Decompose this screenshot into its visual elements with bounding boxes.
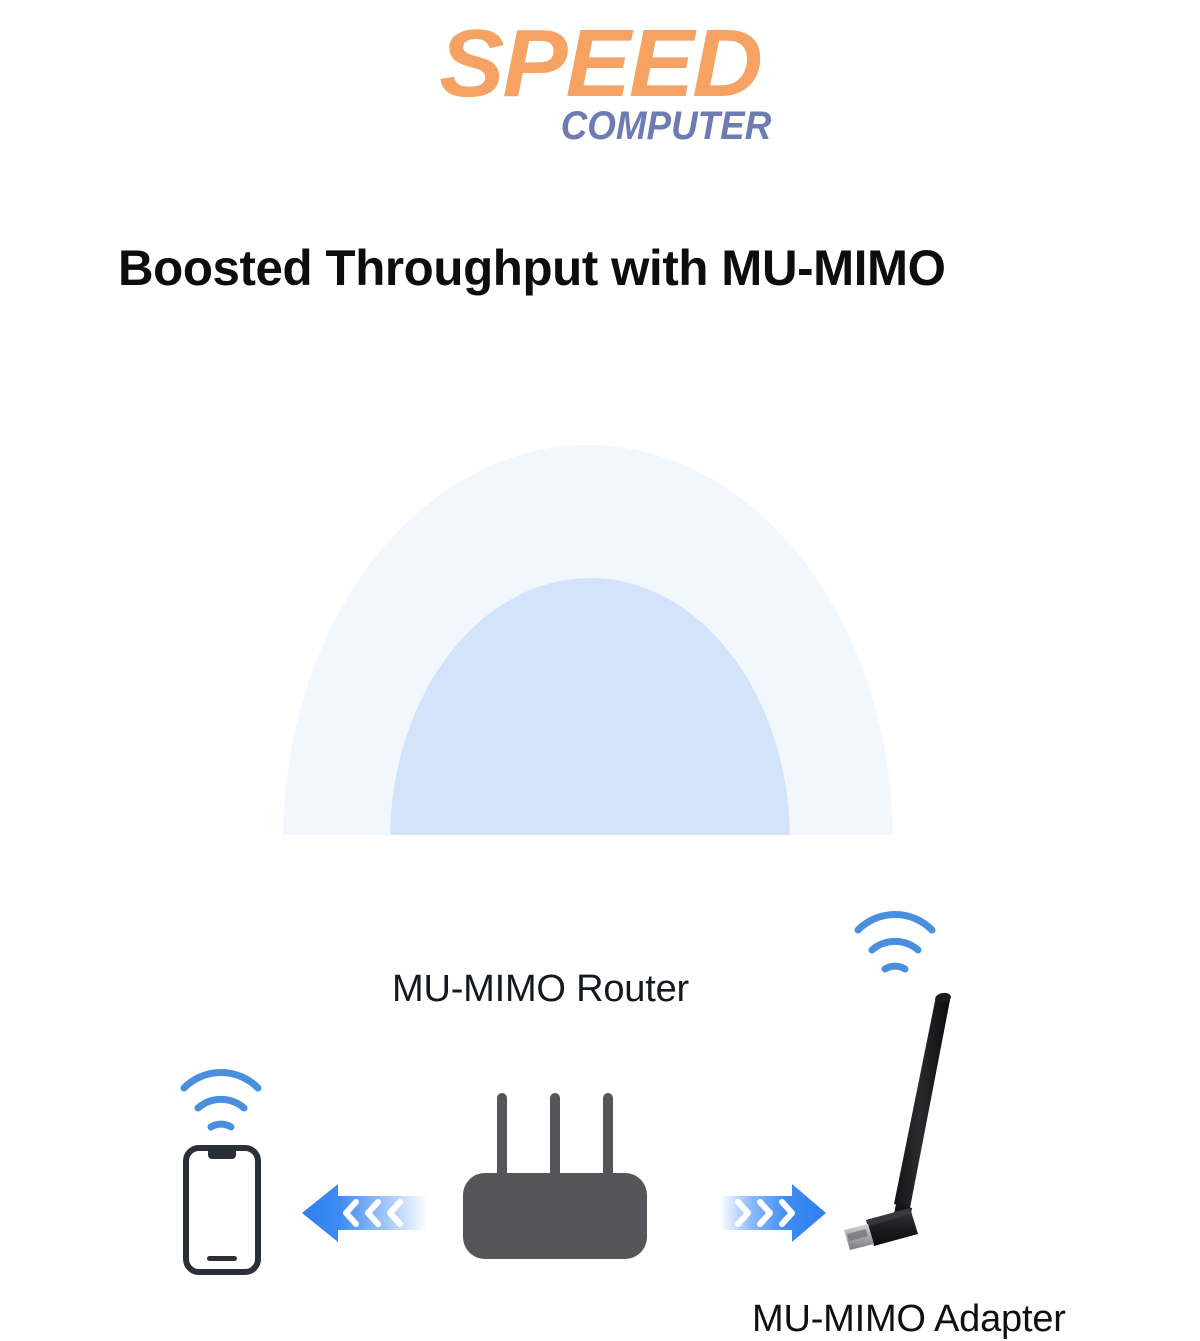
brand-logo: SPEED COMPUTER bbox=[0, 12, 1200, 157]
router-label: MU-MIMO Router bbox=[392, 968, 689, 1011]
mimo-diagram: MU-MIMO Router bbox=[0, 430, 1200, 950]
page-title: Boosted Throughput with MU-MIMO bbox=[118, 238, 1068, 298]
brand-logo-computer-text: COMPUTER bbox=[114, 104, 1200, 148]
page-root: SPEED COMPUTER Boosted Throughput with M… bbox=[0, 0, 1200, 1200]
router-body bbox=[463, 1173, 647, 1259]
brand-logo-speed-text: SPEED bbox=[0, 12, 1200, 116]
usb-wifi-adapter-device bbox=[838, 908, 998, 1268]
smartphone-icon bbox=[168, 1042, 288, 1277]
arrow-right-icon bbox=[718, 1182, 828, 1244]
wifi-signal-icon bbox=[184, 1073, 258, 1127]
usb-wifi-adapter-icon bbox=[838, 908, 998, 1268]
adapter-label: MU-MIMO Adapter bbox=[752, 1298, 1066, 1341]
smartphone-device bbox=[168, 1042, 288, 1277]
mimo-router-device bbox=[455, 1075, 655, 1265]
data-flow-arrow-left bbox=[300, 1182, 430, 1244]
adapter-antenna bbox=[894, 996, 950, 1208]
wifi-signal-icon bbox=[858, 915, 932, 969]
wifi-router-icon bbox=[455, 1075, 655, 1265]
data-flow-arrow-right bbox=[718, 1182, 828, 1244]
arrow-left-icon bbox=[300, 1182, 430, 1244]
